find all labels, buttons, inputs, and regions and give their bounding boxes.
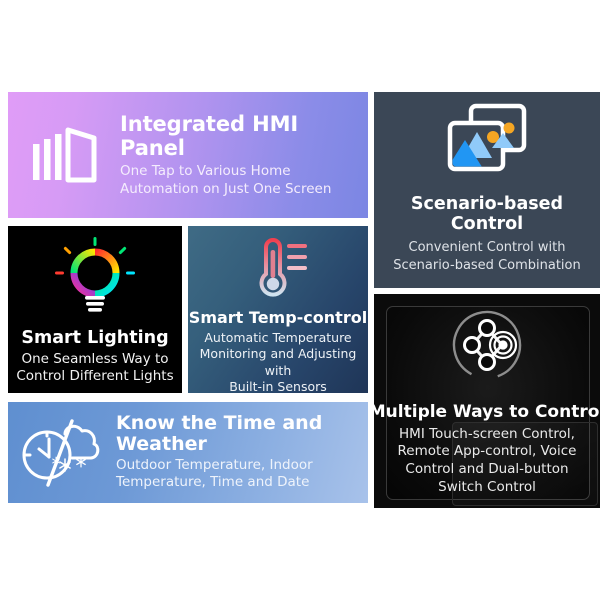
subtitle-line: Temperature, Time and Date: [116, 474, 360, 491]
panel-title: Smart Temp-control: [189, 308, 367, 327]
picture-stack-icon: [446, 102, 528, 178]
subtitle-line: Scenario-based Combination: [393, 257, 580, 274]
subtitle-line: Automatic Temperature: [188, 330, 368, 346]
panel-know-time-and-weather: Know the Time and Weather Outdoor Temper…: [8, 402, 368, 503]
subtitle-line: Outdoor Temperature, Indoor: [116, 457, 360, 474]
subtitle-line: Remote App-control, Voice: [398, 443, 577, 461]
panel-title: Smart Lighting: [21, 328, 168, 348]
subtitle-line: Control Different Lights: [16, 368, 173, 385]
subtitle-line: Control and Dual-button: [398, 461, 577, 479]
panel-title: Integrated HMI Panel: [120, 112, 354, 160]
subtitle-line: One Seamless Way to: [16, 351, 173, 368]
hmi-panel-icon: [8, 126, 120, 184]
panel-multiple-ways-to-control: Multiple Ways to Control HMI Touch-scree…: [374, 294, 600, 508]
hmi-text-block: Integrated HMI Panel One Tap to Various …: [120, 112, 368, 198]
panel-scenario-based-control: Scenario-based Control Convenient Contro…: [374, 92, 600, 288]
subtitle-line: Convenient Control with: [393, 239, 580, 256]
panel-smart-temp-control: Smart Temp-control Automatic Temperature…: [188, 226, 368, 393]
panel-subtitle: Automatic Temperature Monitoring and Adj…: [188, 330, 368, 393]
subtitle-line: Built-in Sensors: [188, 379, 368, 393]
panel-title: Multiple Ways to Control: [374, 402, 600, 422]
subtitle-line: HMI Touch-screen Control,: [398, 426, 577, 444]
panel-subtitle: HMI Touch-screen Control, Remote App-con…: [398, 426, 577, 496]
subtitle-line: Automation on Just One Screen: [120, 181, 354, 199]
panel-title: Scenario-based Control: [382, 194, 592, 234]
rgb-bulb-icon: [53, 236, 137, 322]
panel-subtitle: Outdoor Temperature, Indoor Temperature,…: [116, 457, 360, 492]
subtitle-line: Switch Control: [398, 479, 577, 497]
panel-subtitle: One Seamless Way to Control Different Li…: [16, 351, 173, 386]
thermometer-icon: [244, 234, 312, 304]
panel-subtitle: One Tap to Various Home Automation on Ju…: [120, 163, 354, 198]
panel-subtitle: Convenient Control with Scenario-based C…: [393, 239, 580, 273]
feature-collage: Integrated HMI Panel One Tap to Various …: [0, 0, 600, 600]
network-nodes-icon: [448, 306, 526, 388]
panel-integrated-hmi: Integrated HMI Panel One Tap to Various …: [8, 92, 368, 218]
subtitle-line: One Tap to Various Home: [120, 163, 354, 181]
clock-cloud-snow-icon: [8, 417, 116, 489]
panel-smart-lighting: Smart Lighting One Seamless Way to Contr…: [8, 226, 182, 393]
subtitle-line: Monitoring and Adjusting with: [188, 346, 368, 379]
weather-text-block: Know the Time and Weather Outdoor Temper…: [116, 413, 368, 491]
panel-title: Know the Time and Weather: [116, 413, 360, 455]
